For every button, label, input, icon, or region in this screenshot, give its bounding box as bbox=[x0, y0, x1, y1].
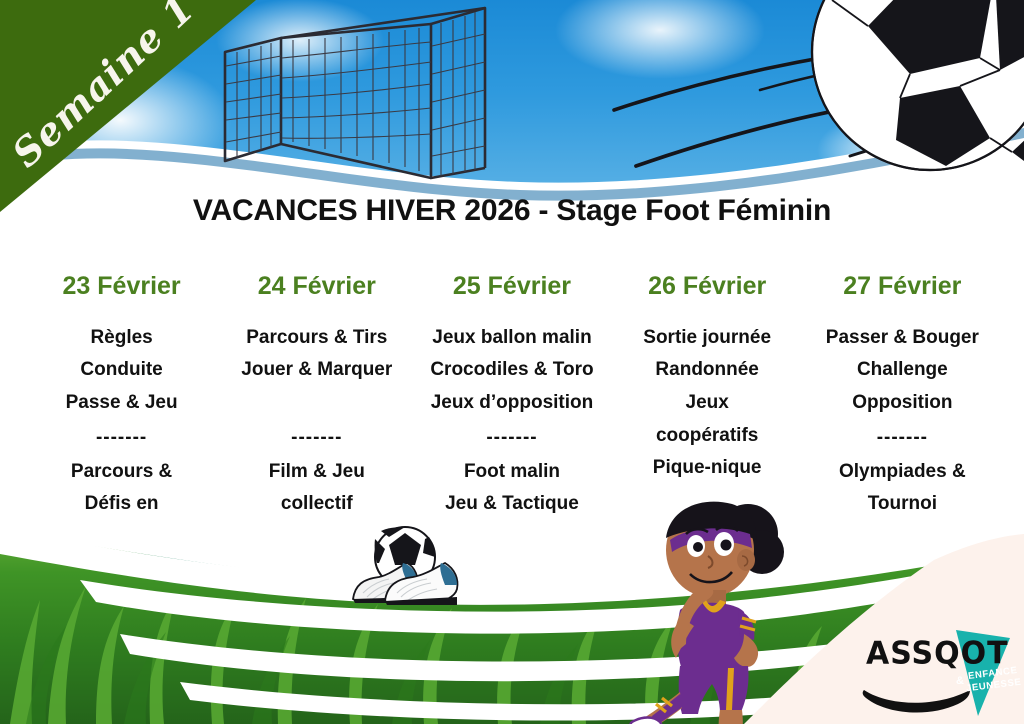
activity-line: Passer & Bouger bbox=[805, 322, 1000, 355]
activity-line: Règles bbox=[24, 322, 219, 355]
girl-footballer-icon bbox=[616, 494, 796, 724]
day-column-3: 25 Février Jeux ballon malin Crocodiles … bbox=[414, 272, 609, 521]
activity-line: Olympiades & bbox=[805, 456, 1000, 489]
activity-line: Parcours & Tirs bbox=[219, 322, 414, 355]
logo-wordmark: ASSQOT bbox=[866, 635, 1009, 672]
activity-line: Film & Jeu bbox=[219, 456, 414, 489]
activity-line: Sortie journée bbox=[610, 322, 805, 355]
activity-line: Randonnée bbox=[610, 354, 805, 387]
activity-line: Pique-nique bbox=[610, 452, 805, 485]
activity-line: Conduite bbox=[24, 354, 219, 387]
activity-line: Passe & Jeu bbox=[24, 387, 219, 420]
day-column-5: 27 Février Passer & Bouger Challenge Opp… bbox=[805, 272, 1000, 554]
ball-graphic bbox=[812, 0, 1024, 182]
activity-line: Jeux d’opposition bbox=[414, 387, 609, 420]
soccer-cleats-icon bbox=[345, 523, 465, 618]
poster: Semaine 1 VACANCES HIVER 2026 - Stage Fo… bbox=[0, 0, 1024, 724]
activity-separator: ------- bbox=[805, 420, 1000, 456]
day-date: 24 Février bbox=[219, 272, 414, 302]
activity-separator: ------- bbox=[219, 420, 414, 456]
day-date: 25 Février bbox=[414, 272, 609, 302]
day-activities: Sortie journée Randonnée Jeux coopératif… bbox=[610, 322, 805, 485]
day-date: 26 Février bbox=[610, 272, 805, 302]
activity-line: Foot malin bbox=[414, 456, 609, 489]
activity-line: coopératifs bbox=[610, 420, 805, 453]
page-title: VACANCES HIVER 2026 - Stage Foot Féminin bbox=[0, 194, 1024, 228]
activity-line: Jeux bbox=[610, 387, 805, 420]
day-column-4: 26 Février Sortie journée Randonnée Jeux… bbox=[610, 272, 805, 485]
activity-line: Parcours & bbox=[24, 456, 219, 489]
logo-swoosh bbox=[863, 690, 970, 713]
logo-ampersand: & bbox=[956, 675, 964, 687]
soccer-ball-icon bbox=[600, 0, 1024, 205]
day-column-1: 23 Février Règles Conduite Passe & Jeu -… bbox=[24, 272, 219, 554]
activity-separator: ------- bbox=[24, 420, 219, 456]
week-banner: Semaine 1 bbox=[0, 0, 265, 215]
day-date: 23 Février bbox=[24, 272, 219, 302]
assqot-logo: ASSQOT & ENFANCE JEUNESSE bbox=[858, 628, 1018, 724]
schedule-grid: 23 Février Règles Conduite Passe & Jeu -… bbox=[24, 272, 1000, 554]
activity-separator: ------- bbox=[414, 420, 609, 456]
day-activities: Jeux ballon malin Crocodiles & Toro Jeux… bbox=[414, 322, 609, 521]
activity-line: Crocodiles & Toro bbox=[414, 354, 609, 387]
day-date: 27 Février bbox=[805, 272, 1000, 302]
day-activities: Parcours & Tirs Jouer & Marquer ------- … bbox=[219, 322, 414, 521]
activity-line: Jouer & Marquer bbox=[219, 354, 414, 387]
activity-line: Jeux ballon malin bbox=[414, 322, 609, 355]
day-column-2: 24 Février Parcours & Tirs Jouer & Marqu… bbox=[219, 272, 414, 521]
activity-line: Challenge bbox=[805, 354, 1000, 387]
activity-line: Opposition bbox=[805, 387, 1000, 420]
